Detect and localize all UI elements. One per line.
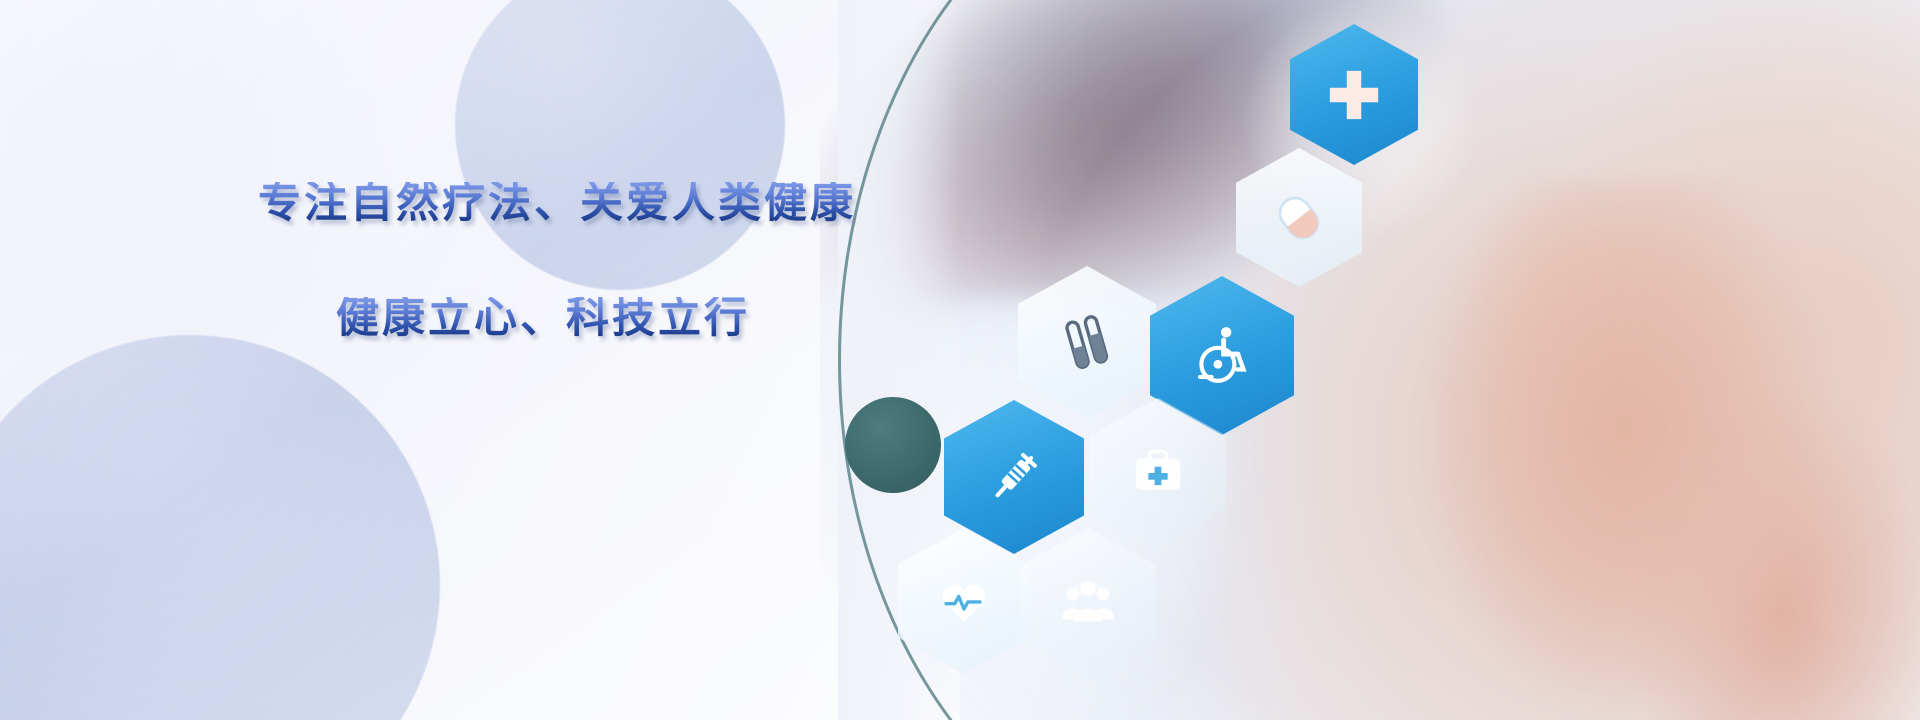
hero-banner: 专注自然疗法、关爱人类健康 健康立心、科技立行 <box>0 0 1920 720</box>
headline-line-1: 专注自然疗法、关爱人类健康 <box>258 182 878 225</box>
soft-circle-bottom <box>0 335 440 720</box>
arc-node-dot <box>845 397 941 493</box>
headline-block: 专注自然疗法、关爱人类健康 健康立心、科技立行 <box>258 182 878 340</box>
photo-lab-coat <box>850 300 1270 720</box>
headline-line-2: 健康立心、科技立行 <box>336 297 878 340</box>
photo-pointing-hand <box>1390 180 1920 720</box>
clinic-photo <box>820 0 1920 720</box>
background-sheen <box>0 0 960 720</box>
